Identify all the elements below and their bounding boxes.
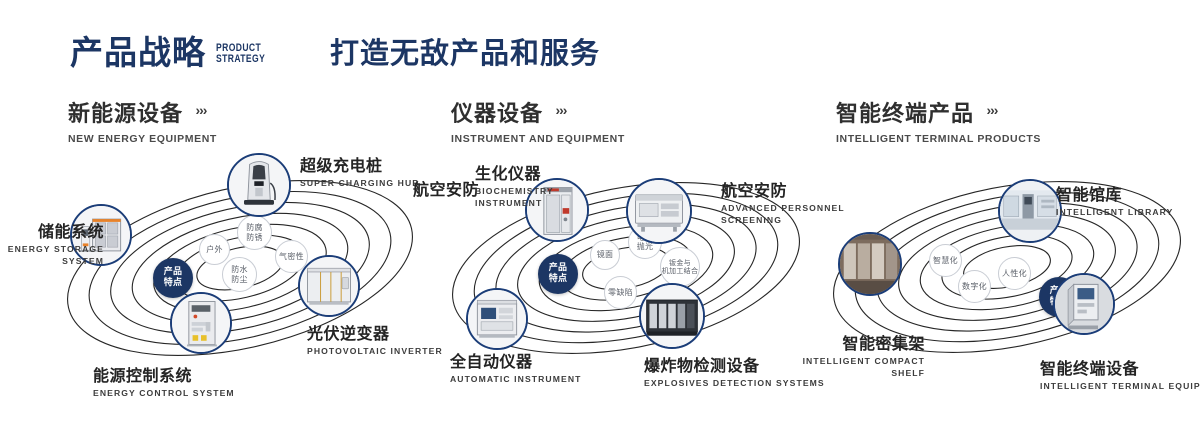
feature-chip-anticorrosion[interactable]: 防腐 防锈 — [237, 215, 272, 250]
node-bubble-advanced-screening[interactable] — [626, 178, 692, 244]
poster-canvas: 产品战略 PRODUCT STRATEGY 打造无敌产品和服务 新能源设备 ››… — [0, 0, 1200, 422]
label-cn: 生化仪器 — [475, 160, 554, 184]
label-en-line1: PHOTOVOLTAIC INVERTER — [307, 346, 443, 356]
core-chip-line2: 特点 — [549, 274, 568, 285]
label-en-line1: ENERGY STORAGE — [0, 244, 104, 254]
label-en-line1: INTELLIGENT COMPACT — [780, 356, 925, 366]
label-en-line2: SHELF — [780, 368, 925, 378]
section-title-en: INTELLIGENT TERMINAL PRODUCTS — [836, 133, 1041, 145]
feature-chip-waterproof[interactable]: 防水 防尘 — [222, 257, 257, 292]
section-title-cn: 仪器设备 — [451, 96, 543, 128]
auto-instrument-icon — [468, 290, 526, 348]
node-bubble-explosives-detection[interactable] — [639, 283, 705, 349]
brand-title-en: PRODUCT STRATEGY — [216, 40, 265, 65]
feature-chip-line1: 防水 — [231, 265, 248, 275]
label-cn: 智能馆库 — [1056, 181, 1174, 205]
core-chip-product-features[interactable]: 产品 特点 — [538, 254, 578, 294]
section-title-en: INSTRUMENT AND EQUIPMENT — [451, 133, 625, 145]
chevron-right-icon: ››› — [195, 102, 206, 118]
node-bubble-intelligent-library[interactable] — [998, 179, 1062, 243]
chevron-right-icon: ››› — [986, 102, 997, 118]
label-cn: 能源控制系统 — [93, 362, 235, 386]
feature-chip-line2: 防尘 — [231, 275, 248, 285]
label-en-line1: INTELLIGENT TERMINAL EQUIPMENT — [1040, 381, 1200, 391]
label-cn: 光伏逆变器 — [307, 320, 443, 344]
section-heading-new-energy: 新能源设备 ››› NEW ENERGY EQUIPMENT — [68, 96, 217, 145]
label-en-line1: ENERGY CONTROL SYSTEM — [93, 388, 235, 398]
label-cn: 航空安防 — [413, 176, 479, 200]
compact-shelf-icon — [840, 234, 900, 294]
label-en-line1: SUPER CHARGING HUB — [300, 178, 420, 188]
label-en-line1: EXPLOSIVES DETECTION SYSTEMS — [644, 378, 825, 388]
feature-chip-line1: 数字化 — [962, 282, 987, 292]
feature-chip-line1: 零缺陷 — [608, 288, 633, 298]
label-cn: 超级充电桩 — [300, 152, 420, 176]
feature-chip-line2: 抛光 — [637, 242, 654, 252]
label-cn: 智能终端设备 — [1040, 355, 1200, 379]
label-aviation-security-left: 航空安防 — [413, 176, 479, 200]
headline: 打造无敌产品和服务 — [330, 30, 600, 72]
feature-chip-line1: 钣金与 — [669, 259, 691, 268]
feature-chip-mirror[interactable]: 镜面 — [590, 240, 620, 270]
core-chip-line1: 产品 — [549, 263, 568, 274]
label-en-line1: AUTOMATIC INSTRUMENT — [450, 374, 581, 384]
label-energy-control: 能源控制系统 ENERGY CONTROL SYSTEM — [93, 362, 235, 398]
feature-chip-line1: 户外 — [206, 245, 223, 255]
brand-title-cn: 产品战略 — [70, 36, 206, 69]
feature-chip-sheetmetal-machining[interactable]: 钣金与 机加工结合 — [660, 247, 700, 287]
core-chip-line1: 产品 — [164, 267, 183, 278]
feature-chip-line1: 镜面 — [597, 250, 614, 260]
node-bubble-terminal-equipment[interactable] — [1053, 273, 1115, 335]
node-bubble-energy-control[interactable] — [170, 292, 232, 354]
terminal-kiosk-icon — [1055, 275, 1113, 333]
section-title-cn: 新能源设备 — [68, 96, 183, 128]
feature-chip-line2: 机加工结合 — [662, 267, 699, 276]
label-en-line1: BIOCHEMISTRY — [475, 186, 554, 196]
label-cn: 全自动仪器 — [450, 348, 581, 372]
charging-pile-icon — [229, 155, 289, 215]
label-charging-hub: 超级充电桩 SUPER CHARGING HUB — [300, 152, 420, 188]
smart-library-icon — [1000, 181, 1060, 241]
feature-chip-digital[interactable]: 数字化 — [958, 270, 991, 303]
pv-inverter-icon — [300, 257, 358, 315]
brand-title: 产品战略 PRODUCT STRATEGY — [70, 26, 279, 78]
core-chip-line2: 特点 — [164, 278, 183, 289]
node-bubble-compact-shelf[interactable] — [838, 232, 902, 296]
feature-chip-outdoor[interactable]: 户外 — [199, 234, 230, 265]
feature-chip-zero-defect[interactable]: 零缺陷 — [604, 276, 637, 309]
label-pv-inverter: 光伏逆变器 PHOTOVOLTAIC INVERTER — [307, 320, 443, 356]
label-en-line2: INSTRUMENT — [475, 198, 554, 208]
label-cn: 储能系统 — [0, 218, 104, 242]
node-bubble-automatic-instrument[interactable] — [466, 288, 528, 350]
label-intelligent-library: 智能馆库 INTELLIGENT LIBRARY — [1056, 181, 1174, 217]
screening-scanner-icon — [628, 180, 690, 242]
node-bubble-charging-hub[interactable] — [227, 153, 291, 217]
feature-chip-line2: 防锈 — [246, 233, 263, 243]
label-en-line1: INTELLIGENT LIBRARY — [1056, 207, 1174, 217]
label-biochemistry-instrument: 生化仪器 BIOCHEMISTRY INSTRUMENT — [475, 160, 554, 208]
label-cn: 智能密集架 — [780, 330, 925, 354]
node-bubble-pv-inverter[interactable] — [298, 255, 360, 317]
chevron-right-icon: ››› — [555, 102, 566, 118]
section-heading-instrument: 仪器设备 ››› INSTRUMENT AND EQUIPMENT — [451, 96, 625, 145]
section-heading-intelligent-terminal: 智能终端产品 ››› INTELLIGENT TERMINAL PRODUCTS — [836, 96, 1041, 145]
core-chip-product-features[interactable]: 产品 特点 — [153, 258, 193, 298]
label-terminal-equipment: 智能终端设备 INTELLIGENT TERMINAL EQUIPMENT — [1040, 355, 1200, 391]
label-en-line2: SYSTEM — [0, 256, 104, 266]
feature-chip-line1: 智慧化 — [933, 256, 958, 266]
label-energy-storage: 储能系统 ENERGY STORAGE SYSTEM — [0, 218, 104, 266]
feature-chip-humanized[interactable]: 人性化 — [998, 257, 1031, 290]
feature-chip-intelligent[interactable]: 智慧化 — [929, 244, 962, 277]
label-automatic-instrument: 全自动仪器 AUTOMATIC INSTRUMENT — [450, 348, 581, 384]
section-title-en: NEW ENERGY EQUIPMENT — [68, 133, 217, 145]
brand-title-en-line2: STRATEGY — [216, 53, 265, 65]
label-compact-shelf: 智能密集架 INTELLIGENT COMPACT SHELF — [780, 330, 925, 378]
feature-chip-line1: 人性化 — [1002, 269, 1027, 279]
control-cabinet-icon — [172, 294, 230, 352]
section-title-cn: 智能终端产品 — [836, 96, 974, 128]
explosives-detector-icon — [641, 285, 703, 347]
feature-chip-line1: 防腐 — [246, 223, 263, 233]
